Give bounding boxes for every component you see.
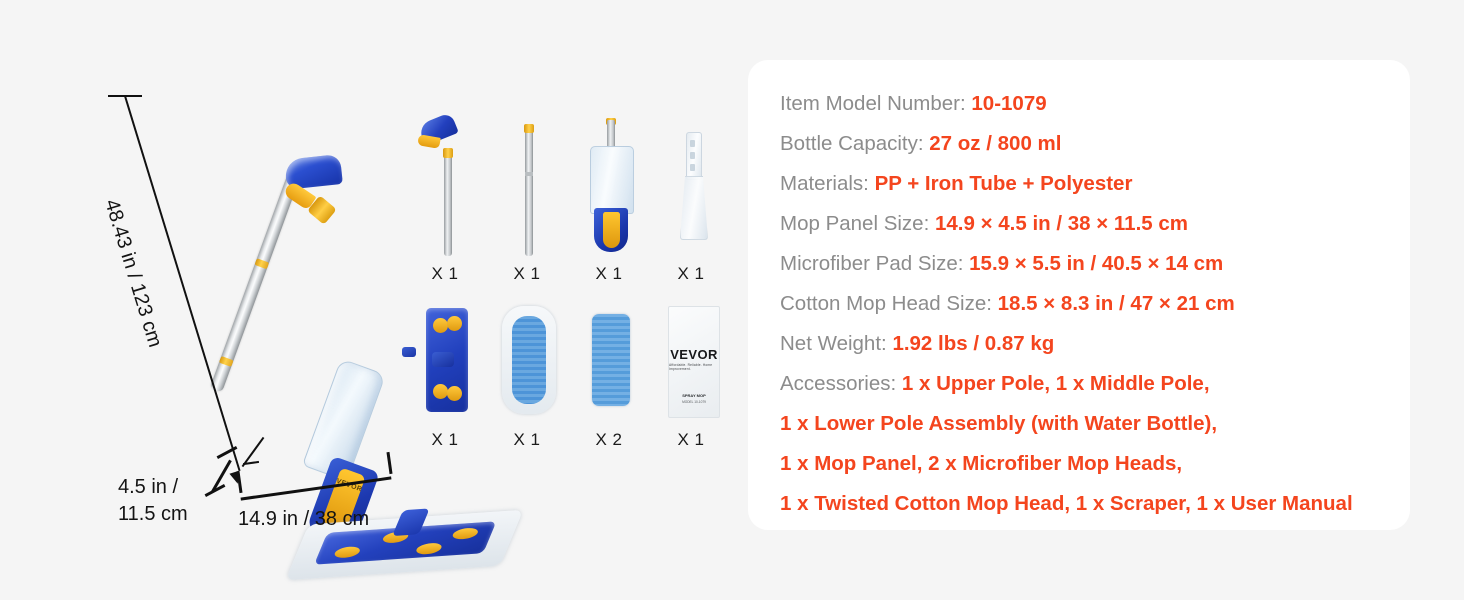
mop-pole (210, 172, 301, 393)
spec-label: Item Model Number: (780, 92, 966, 115)
specification-list: Item Model Number: 10-1079 Bottle Capaci… (780, 84, 1388, 524)
spec-label: Mop Panel Size: (780, 212, 929, 235)
accessories-line-4: 1 x Twisted Cotton Mop Head, 1 x Scraper… (780, 484, 1388, 524)
spec-row-net-weight: Net Weight: 1.92 lbs / 0.87 kg (780, 324, 1388, 364)
accessories-line-2: 1 x Lower Pole Assembly (with Water Bott… (780, 404, 1388, 444)
parts-breakdown: X 1 X 1 (404, 110, 734, 460)
spec-value: PP + Iron Tube + Polyester (875, 172, 1133, 195)
spec-value: 1 x Upper Pole, 1 x Middle Pole, (902, 372, 1210, 395)
pad-clip-icon (414, 542, 443, 555)
mop-panel-icon (404, 300, 486, 420)
spec-label: Accessories: (780, 372, 896, 395)
spec-label: Net Weight: (780, 332, 887, 355)
pole-ring-icon (219, 356, 234, 367)
spec-label: Cotton Mop Head Size: (780, 292, 992, 315)
part-quantity: X 1 (513, 264, 540, 284)
spec-value: 27 oz / 800 ml (929, 132, 1061, 155)
pad-clip-icon (451, 527, 480, 540)
part-quantity: X 1 (431, 264, 458, 284)
product-spec-image: VEVOR 48.43 in / 123 cm 4.5 in (0, 0, 1464, 600)
manual-tagline: Affordable. Reliable. Home Improvement. (669, 363, 719, 371)
parts-row-top: X 1 X 1 (404, 110, 734, 284)
part-quantity: X 1 (595, 264, 622, 284)
pad-clip-icon (333, 546, 362, 559)
spec-value: 1.92 lbs / 0.87 kg (892, 332, 1054, 355)
upper-pole-icon (404, 110, 486, 260)
lower-pole-assembly-icon (568, 110, 650, 260)
spec-row-cotton-mop-head-size: Cotton Mop Head Size: 18.5 × 8.3 in / 47… (780, 284, 1388, 324)
part-mop-panel: X 1 (404, 300, 486, 450)
accessories-line-3: 1 x Mop Panel, 2 x Microfiber Mop Heads, (780, 444, 1388, 484)
part-quantity: X 1 (431, 430, 458, 450)
spec-value: 18.5 × 8.3 in / 47 × 21 cm (998, 292, 1235, 315)
depth-dimension-label-line2: 11.5 cm (118, 501, 188, 528)
pole-ring-icon (255, 258, 270, 269)
spec-value: 10-1079 (971, 92, 1046, 115)
width-dimension-label: 14.9 in / 38 cm (238, 508, 369, 531)
part-scraper: X 1 (650, 110, 732, 284)
part-quantity: X 1 (677, 430, 704, 450)
part-user-manual: VEVOR Affordable. Reliable. Home Improve… (650, 300, 732, 450)
assembled-spray-mop: VEVOR (120, 78, 440, 508)
depth-dimension-label-line1: 4.5 in / (118, 474, 188, 501)
scraper-icon (650, 110, 732, 260)
user-manual-icon: VEVOR Affordable. Reliable. Home Improve… (650, 300, 732, 420)
part-twisted-cotton-mop-head: X 1 (486, 300, 568, 450)
specification-card: Item Model Number: 10-1079 Bottle Capaci… (748, 60, 1410, 530)
spec-value: 15.9 × 5.5 in / 40.5 × 14 cm (969, 252, 1223, 275)
spec-row-microfiber-pad-size: Microfiber Pad Size: 15.9 × 5.5 in / 40.… (780, 244, 1388, 284)
spec-row-accessories: Accessories: 1 x Upper Pole, 1 x Middle … (780, 364, 1388, 404)
spec-row-item-model-number: Item Model Number: 10-1079 (780, 84, 1388, 124)
part-microfiber-mop-head: X 2 (568, 300, 650, 450)
spec-label: Materials: (780, 172, 869, 195)
spec-label: Microfiber Pad Size: (780, 252, 963, 275)
middle-pole-icon (486, 110, 568, 260)
part-upper-pole: X 1 (404, 110, 486, 284)
spec-row-mop-panel-size: Mop Panel Size: 14.9 × 4.5 in / 38 × 11.… (780, 204, 1388, 244)
part-quantity: X 1 (513, 430, 540, 450)
manual-subtitle: SPRAY MOP (682, 393, 706, 398)
microfiber-pad-icon (568, 300, 650, 420)
part-quantity: X 2 (595, 430, 622, 450)
part-quantity: X 1 (677, 264, 704, 284)
spec-label: Bottle Capacity: (780, 132, 924, 155)
spec-row-materials: Materials: PP + Iron Tube + Polyester (780, 164, 1388, 204)
part-lower-pole-assembly: X 1 (568, 110, 650, 284)
spec-row-bottle-capacity: Bottle Capacity: 27 oz / 800 ml (780, 124, 1388, 164)
depth-dimension-label: 4.5 in / 11.5 cm (118, 474, 188, 528)
part-middle-pole: X 1 (486, 110, 568, 284)
manual-model: MODEL 10-1079 (682, 400, 706, 404)
cotton-mop-head-icon (486, 300, 568, 420)
parts-row-bottom: X 1 X 1 X 2 (404, 300, 734, 450)
manual-logo: VEVOR (670, 347, 718, 362)
product-illustration-panel: VEVOR 48.43 in / 123 cm 4.5 in (0, 0, 748, 600)
spec-value: 14.9 × 4.5 in / 38 × 11.5 cm (935, 212, 1188, 235)
